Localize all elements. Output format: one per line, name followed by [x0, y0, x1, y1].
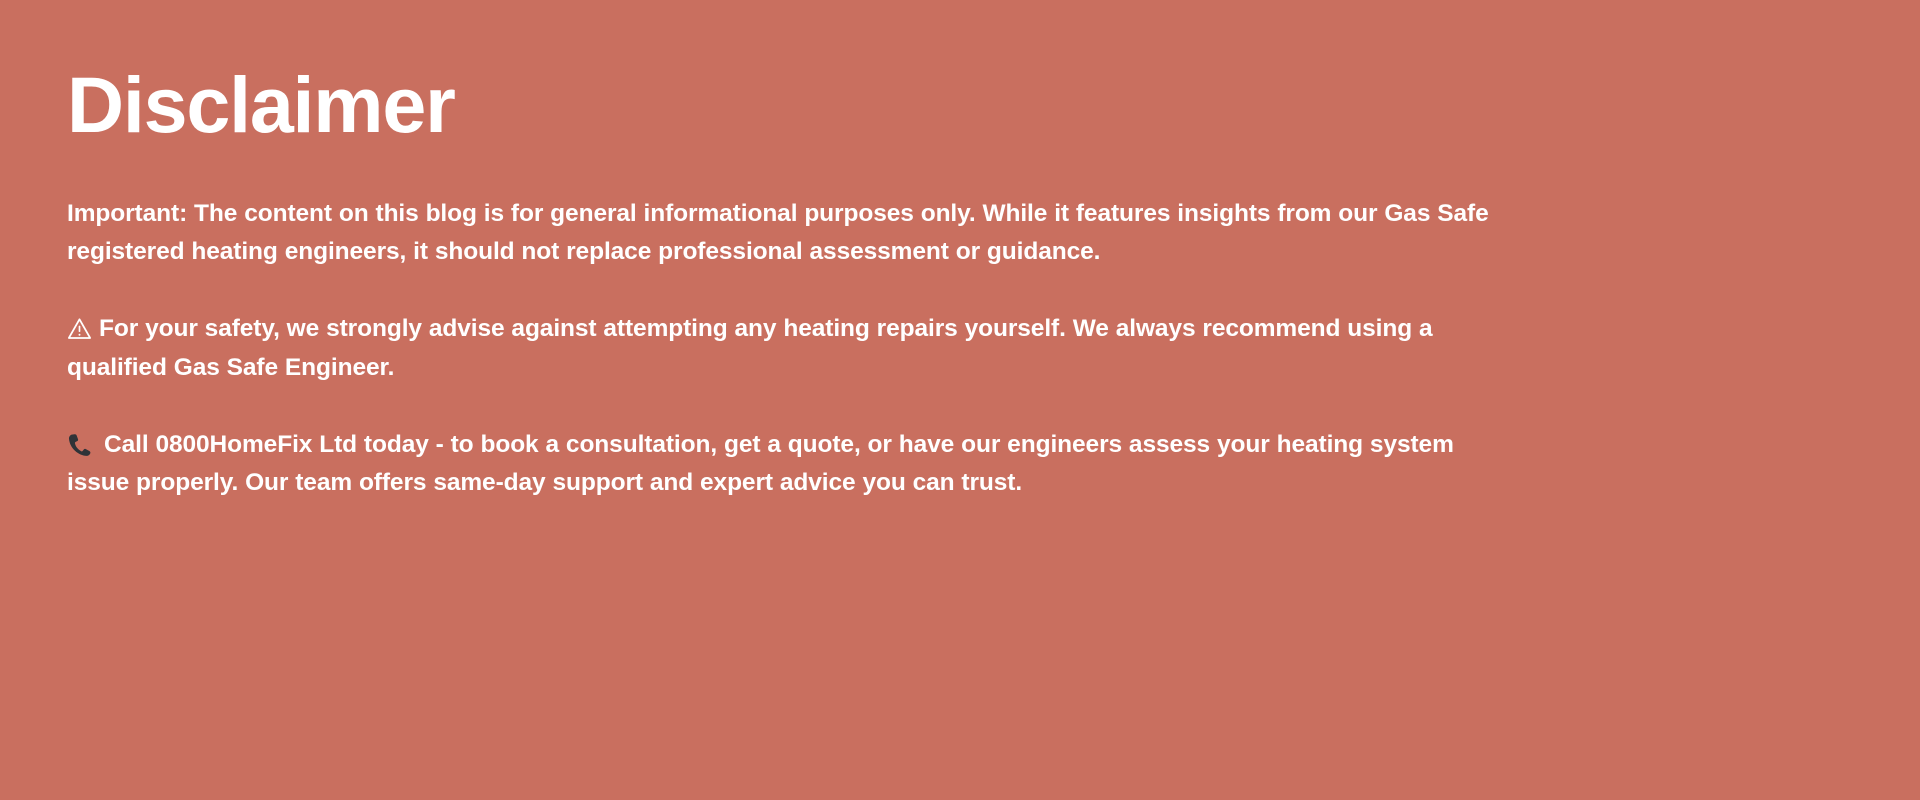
paragraph-call-to-action-text: Call 0800HomeFix Ltd today - to book a c…: [67, 431, 1454, 497]
paragraph-safety-warning-text: For your safety, we strongly advise agai…: [67, 315, 1433, 381]
paragraph-call-to-action: Call 0800HomeFix Ltd today - to book a c…: [67, 426, 1497, 503]
page-title: Disclaimer: [67, 0, 1497, 149]
paragraph-important-notice-text: Important: The content on this blog is f…: [67, 200, 1489, 266]
disclaimer-section: Disclaimer Important: The content on thi…: [0, 0, 1920, 800]
warning-triangle-icon: [67, 317, 92, 340]
paragraph-important-notice: Important: The content on this blog is f…: [67, 195, 1497, 272]
disclaimer-body: Important: The content on this blog is f…: [67, 195, 1497, 503]
disclaimer-content: Disclaimer Important: The content on thi…: [67, 0, 1497, 503]
telephone-receiver-icon: [67, 432, 93, 458]
paragraph-safety-warning: For your safety, we strongly advise agai…: [67, 310, 1497, 387]
